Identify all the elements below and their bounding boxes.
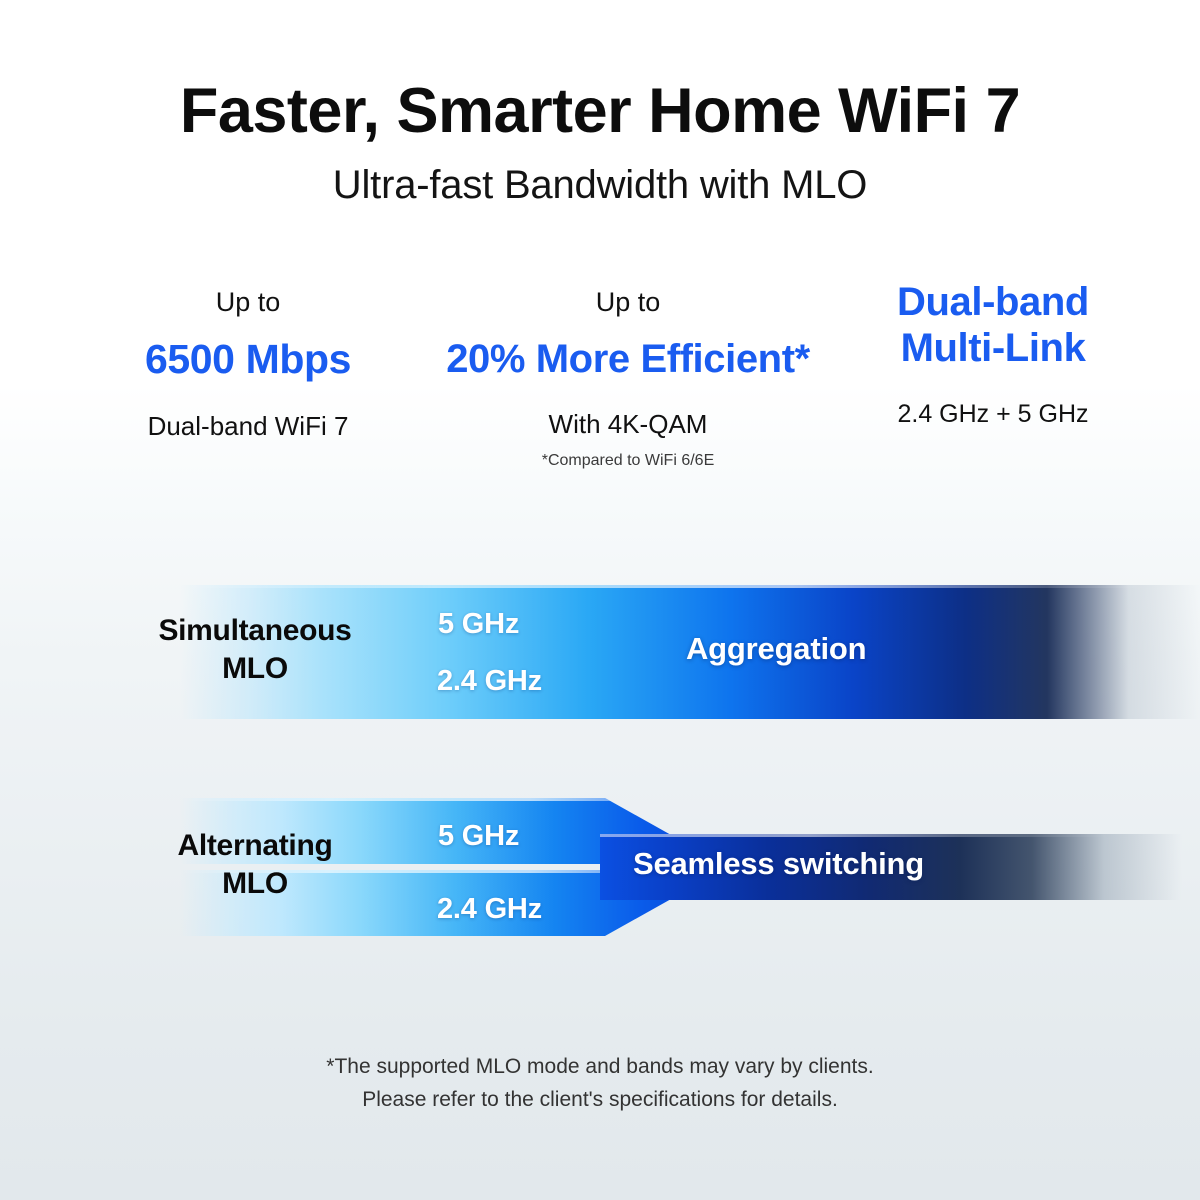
stat-eyebrow: Up to [428,286,828,322]
page-subtitle: Ultra-fast Bandwidth with MLO [0,163,1200,207]
band-label-24ghz: 2.4 GHz [437,665,542,698]
mlo-mode-label-alternating: Alternating MLO [110,790,400,940]
stat-footnote: *Compared to WiFi 6/6E [428,451,828,472]
stat-card-multilink: Dual-band Multi-Link 2.4 GHz + 5 GHz [828,286,1158,430]
mlo-behavior-label-switching: Seamless switching [633,846,924,882]
stat-card-bandwidth: Up to 6500 Mbps Dual-band WiFi 7 [68,286,428,442]
mlo-mode-label-simultaneous: Simultaneous MLO [110,575,400,725]
disclaimer-line-2: Please refer to the client's specificati… [0,1083,1200,1116]
band-label-5ghz: 5 GHz [438,608,519,641]
stat-value-group: Dual-band Multi-Link [828,279,1158,372]
mlo-mode-name-line2: MLO [222,650,288,688]
mlo-diagram-alternating: Alternating MLO 5 GHz 2.4 GHz Seamless s… [0,790,1200,940]
stat-subtext: With 4K-QAM [428,408,828,441]
mlo-mode-name-line1: Alternating [177,827,332,865]
stat-eyebrow: Up to [68,286,428,322]
stat-subtext: 2.4 GHz + 5 GHz [828,399,1158,430]
stats-row: Up to 6500 Mbps Dual-band WiFi 7 Up to 2… [0,286,1200,472]
mlo-mode-name-line1: Simultaneous [158,612,351,650]
mlo-mode-name-line2: MLO [222,865,288,903]
band-label-24ghz: 2.4 GHz [437,893,542,926]
mlo-diagram-simultaneous: Simultaneous MLO 5 GHz 2.4 GHz Aggregati… [0,575,1200,725]
page-title: Faster, Smarter Home WiFi 7 [0,78,1200,145]
stat-value-line1: Dual-band [828,279,1158,325]
mlo-behavior-label-aggregation: Aggregation [686,631,866,667]
disclaimer: *The supported MLO mode and bands may va… [0,1050,1200,1116]
disclaimer-line-1: *The supported MLO mode and bands may va… [0,1050,1200,1083]
band-label-5ghz: 5 GHz [438,820,519,853]
stat-card-efficiency: Up to 20% More Efficient* With 4K-QAM *C… [428,286,828,472]
stat-value: 20% More Efficient* [428,336,828,382]
infographic-poster: Faster, Smarter Home WiFi 7 Ultra-fast B… [0,0,1200,1200]
stat-value: 6500 Mbps [68,336,428,384]
stat-value-line2: Multi-Link [828,325,1158,371]
stat-subtext: Dual-band WiFi 7 [68,410,428,443]
header: Faster, Smarter Home WiFi 7 Ultra-fast B… [0,78,1200,207]
